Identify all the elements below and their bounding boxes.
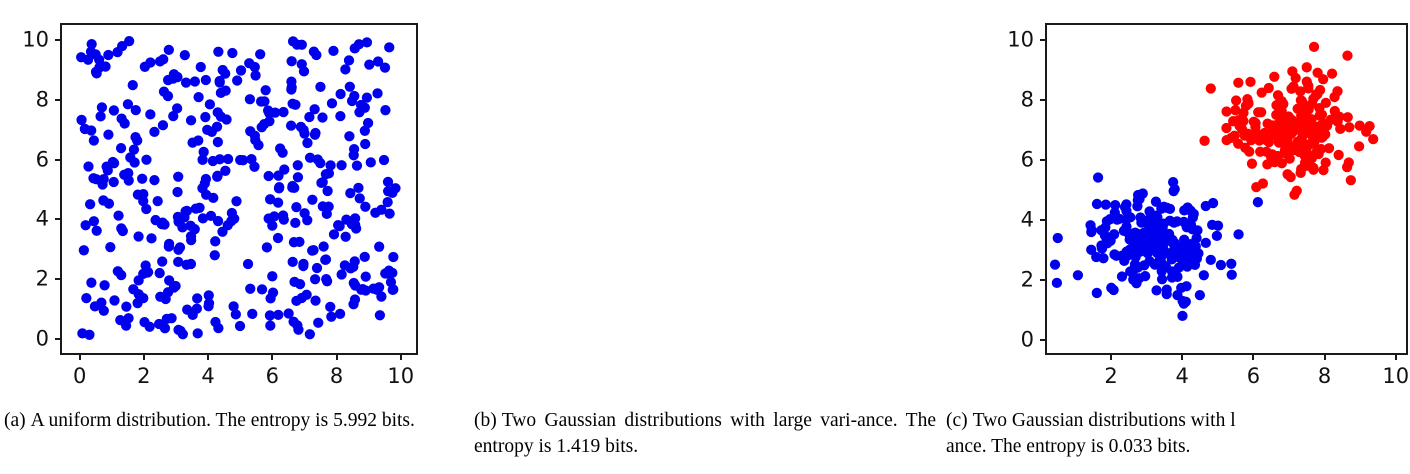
data-point xyxy=(116,143,126,153)
data-point xyxy=(213,107,223,117)
data-point xyxy=(265,321,275,331)
data-point xyxy=(360,202,370,212)
data-point xyxy=(208,193,218,203)
data-point xyxy=(210,250,220,260)
data-point xyxy=(350,256,360,266)
data-point xyxy=(291,202,301,212)
data-point xyxy=(192,293,202,303)
data-point xyxy=(344,55,354,65)
data-point xyxy=(205,99,215,109)
data-point xyxy=(274,182,284,192)
data-point xyxy=(277,148,287,158)
data-point xyxy=(201,75,211,85)
data-point xyxy=(113,210,123,220)
data-point xyxy=(199,147,209,157)
data-point xyxy=(89,216,99,226)
data-point xyxy=(273,233,283,243)
data-point xyxy=(236,65,246,75)
data-point xyxy=(109,295,119,305)
x-tick-label-0: 0 xyxy=(73,366,86,387)
data-point xyxy=(349,91,359,101)
data-point xyxy=(158,217,168,227)
data-point xyxy=(262,242,272,252)
data-point xyxy=(163,91,173,101)
data-point xyxy=(374,242,384,252)
data-point xyxy=(89,135,99,145)
data-point xyxy=(83,161,93,171)
data-point xyxy=(250,62,260,72)
data-point xyxy=(313,154,323,164)
data-point xyxy=(221,85,231,95)
data-point xyxy=(340,260,350,270)
data-point xyxy=(289,237,299,247)
data-point xyxy=(201,174,211,184)
data-point xyxy=(180,206,190,216)
data-point xyxy=(149,175,159,185)
data-point xyxy=(286,84,296,94)
data-point xyxy=(196,62,206,72)
data-point xyxy=(133,231,143,241)
data-point xyxy=(146,233,156,243)
data-point xyxy=(296,122,306,132)
data-point xyxy=(83,55,93,65)
data-point xyxy=(308,245,318,255)
data-point xyxy=(267,271,277,281)
data-point xyxy=(235,155,245,165)
figure-root: 02468100246810 (a)A uniform distribution… xyxy=(0,0,1410,474)
data-point xyxy=(164,241,174,251)
data-point xyxy=(169,283,179,293)
data-point xyxy=(265,194,275,204)
caption-text-c: Two Gaussian distributions with l xyxy=(973,410,1236,431)
caption-label-b: (b) xyxy=(474,410,497,431)
data-point xyxy=(324,202,334,212)
data-point xyxy=(265,293,275,303)
data-point xyxy=(307,195,317,205)
data-point xyxy=(313,318,323,328)
x-tick-8 xyxy=(336,353,338,360)
data-point xyxy=(158,120,168,130)
data-point xyxy=(289,183,299,193)
data-point xyxy=(350,220,360,230)
data-point xyxy=(364,59,374,69)
data-point xyxy=(320,255,330,265)
data-point xyxy=(388,252,398,262)
data-point xyxy=(187,137,197,147)
data-point xyxy=(149,127,159,137)
data-point xyxy=(175,326,185,336)
data-point xyxy=(113,266,123,276)
data-point xyxy=(210,236,220,246)
data-point xyxy=(264,171,274,181)
data-point xyxy=(121,302,131,312)
y-tick-label-2: 2 xyxy=(36,269,49,290)
y-tick-6 xyxy=(55,159,62,161)
data-point xyxy=(289,277,299,287)
data-point xyxy=(259,96,269,106)
data-point xyxy=(335,111,345,121)
data-point xyxy=(190,224,200,234)
x-tick-label-6: 6 xyxy=(266,366,279,387)
y-tick-label-6: 6 xyxy=(36,149,49,170)
data-point xyxy=(352,161,362,171)
data-point xyxy=(186,235,196,245)
data-point xyxy=(293,172,303,182)
data-point xyxy=(372,285,382,295)
x-tick-0 xyxy=(79,353,81,360)
data-point xyxy=(168,73,178,83)
x-tick-2 xyxy=(143,353,145,360)
data-point xyxy=(92,226,102,236)
data-point xyxy=(173,172,183,182)
data-point xyxy=(376,205,386,215)
data-point xyxy=(283,308,293,318)
y-tick-label-0: 0 xyxy=(36,329,49,350)
data-point xyxy=(227,48,237,58)
data-point xyxy=(203,301,213,311)
data-point xyxy=(220,68,230,78)
data-point xyxy=(215,154,225,164)
y-tick-4 xyxy=(55,218,62,220)
caption-label-c: (c) xyxy=(946,410,968,431)
data-point xyxy=(340,64,350,74)
data-point xyxy=(145,109,155,119)
data-point xyxy=(292,39,302,49)
data-point xyxy=(188,310,198,320)
caption-text-b: Two Gaussian distributions with large va… xyxy=(474,410,941,457)
y-tick-10 xyxy=(55,39,62,41)
data-point xyxy=(278,107,288,117)
data-point xyxy=(253,140,263,150)
data-point xyxy=(133,189,143,199)
data-point xyxy=(180,50,190,60)
data-point xyxy=(388,285,398,295)
data-point xyxy=(213,216,223,226)
data-point xyxy=(80,124,90,134)
data-point xyxy=(299,66,309,76)
data-point xyxy=(99,280,109,290)
caption-text-c-line2: ance. The entropy is 0.033 bits. xyxy=(946,436,1190,457)
data-point xyxy=(210,317,220,327)
data-point xyxy=(213,137,223,147)
data-point xyxy=(217,227,227,237)
data-point xyxy=(336,160,346,170)
data-point xyxy=(286,56,296,66)
y-tick-2 xyxy=(55,278,62,280)
data-point xyxy=(158,54,168,64)
data-point xyxy=(96,297,106,307)
data-point xyxy=(360,252,370,262)
data-point xyxy=(293,325,303,335)
data-point xyxy=(316,178,326,188)
data-point xyxy=(278,210,288,220)
data-point xyxy=(288,99,298,109)
data-point xyxy=(310,274,320,284)
data-point xyxy=(124,36,134,46)
data-point xyxy=(99,174,109,184)
data-point xyxy=(375,310,385,320)
data-point xyxy=(109,105,119,115)
scatter-points-a xyxy=(62,25,416,353)
data-point xyxy=(145,57,155,67)
caption-c: (c)Two Gaussian distributions with lance… xyxy=(946,408,1410,459)
x-tick-4 xyxy=(207,353,209,360)
data-point xyxy=(103,129,113,139)
scatter-plot-a: 02468100246810 xyxy=(60,23,418,355)
subfigure-c: 024681002468 (c)Two Gaussian distributio… xyxy=(940,0,1410,474)
data-point xyxy=(297,293,307,303)
data-point xyxy=(207,127,217,137)
data-point xyxy=(286,120,296,130)
data-point xyxy=(390,183,400,193)
data-point xyxy=(221,114,231,124)
data-point xyxy=(231,309,241,319)
data-point xyxy=(263,105,273,115)
data-point xyxy=(177,222,187,232)
data-point xyxy=(157,256,167,266)
data-point xyxy=(290,218,300,228)
data-point xyxy=(363,118,373,128)
data-point xyxy=(322,276,332,286)
data-point xyxy=(304,112,314,122)
x-tick-label-8: 8 xyxy=(330,366,343,387)
data-point xyxy=(255,49,265,59)
data-point xyxy=(298,261,308,271)
data-point xyxy=(246,154,256,164)
caption-a: (a)A uniform distribution. The entropy i… xyxy=(4,408,466,434)
data-point xyxy=(305,329,315,339)
data-point xyxy=(154,319,164,329)
data-point xyxy=(129,157,139,167)
data-point xyxy=(345,82,355,92)
data-point xyxy=(85,199,95,209)
data-point xyxy=(335,89,345,99)
data-point xyxy=(344,131,354,141)
data-point xyxy=(97,102,107,112)
x-tick-label-10: 10 xyxy=(387,366,414,387)
data-point xyxy=(134,289,144,299)
data-point xyxy=(333,220,343,230)
data-point xyxy=(380,105,390,115)
data-point xyxy=(362,37,372,47)
data-point xyxy=(105,242,115,252)
data-point xyxy=(133,275,143,285)
data-point xyxy=(310,295,320,305)
data-point xyxy=(116,113,126,123)
data-point xyxy=(232,75,242,85)
data-point xyxy=(360,139,370,149)
data-point xyxy=(173,245,183,255)
data-point xyxy=(317,112,327,122)
data-point xyxy=(349,150,359,160)
data-point xyxy=(356,100,366,110)
data-point xyxy=(310,130,320,140)
data-point xyxy=(361,271,371,281)
data-point xyxy=(86,278,96,288)
y-tick-label-4: 4 xyxy=(36,209,49,230)
data-point xyxy=(350,280,360,290)
data-point xyxy=(302,138,312,148)
data-point xyxy=(293,160,303,170)
data-point xyxy=(190,76,200,86)
data-point xyxy=(327,98,337,108)
data-point xyxy=(264,116,274,126)
data-point xyxy=(355,193,365,203)
scatter-canvas-a xyxy=(62,25,416,353)
data-point xyxy=(212,171,222,181)
data-point xyxy=(168,111,178,121)
data-point xyxy=(119,170,129,180)
data-point xyxy=(172,187,182,197)
data-point xyxy=(325,302,335,312)
data-point xyxy=(337,269,347,279)
data-point xyxy=(131,105,141,115)
data-point xyxy=(141,155,151,165)
data-point xyxy=(384,42,394,52)
data-point xyxy=(372,88,382,98)
data-point xyxy=(213,47,223,57)
x-tick-label-4: 4 xyxy=(201,366,214,387)
data-point xyxy=(103,50,113,60)
data-point xyxy=(155,268,165,278)
subfigure-b: 0246810246810 (b)Two Gaussian distributi… xyxy=(470,0,940,474)
data-point xyxy=(247,309,257,319)
data-point xyxy=(155,292,165,302)
data-point xyxy=(235,321,245,331)
data-point xyxy=(130,132,140,142)
data-point xyxy=(128,80,138,90)
data-point xyxy=(341,232,351,242)
data-point xyxy=(261,85,271,95)
y-tick-0 xyxy=(55,338,62,340)
data-point xyxy=(197,183,207,193)
data-point xyxy=(200,112,210,122)
data-point xyxy=(350,43,360,53)
data-point xyxy=(265,310,275,320)
data-point xyxy=(315,82,325,92)
data-point xyxy=(250,131,260,141)
subfigure-a: 02468100246810 (a)A uniform distribution… xyxy=(0,0,470,474)
caption-b: (b)Two Gaussian distributions with large… xyxy=(474,408,936,459)
data-point xyxy=(193,92,203,102)
data-point xyxy=(309,46,319,56)
data-point xyxy=(109,158,119,168)
data-point xyxy=(288,257,298,267)
data-point xyxy=(79,245,89,255)
data-point xyxy=(98,195,108,205)
y-tick-label-8: 8 xyxy=(36,89,49,110)
data-point xyxy=(81,293,91,303)
data-point xyxy=(257,284,267,294)
data-point xyxy=(273,171,283,181)
data-point xyxy=(345,188,355,198)
data-point xyxy=(186,115,196,125)
data-point xyxy=(366,157,376,167)
data-point xyxy=(328,46,338,56)
data-point xyxy=(245,94,255,104)
point-series-uniform xyxy=(76,36,401,340)
data-point xyxy=(325,160,335,170)
data-point xyxy=(198,213,208,223)
data-point xyxy=(132,298,142,308)
data-point xyxy=(312,263,322,273)
data-point xyxy=(191,203,201,213)
data-point xyxy=(302,215,312,225)
data-point xyxy=(76,115,86,125)
data-point xyxy=(379,155,389,165)
y-tick-8 xyxy=(55,99,62,101)
y-tick-label-10: 10 xyxy=(22,29,49,50)
data-point xyxy=(181,77,191,87)
data-point xyxy=(380,268,390,278)
data-point xyxy=(137,174,147,184)
data-point xyxy=(144,322,154,332)
data-point xyxy=(319,241,329,251)
data-point xyxy=(173,257,183,267)
data-point xyxy=(193,328,203,338)
data-point xyxy=(95,111,105,121)
data-point xyxy=(109,177,119,187)
data-point xyxy=(153,196,163,206)
x-tick-10 xyxy=(400,353,402,360)
caption-text-a: A uniform distribution. The entropy is 5… xyxy=(31,410,415,431)
data-point xyxy=(164,45,174,55)
x-tick-label-2: 2 xyxy=(137,366,150,387)
data-point xyxy=(267,220,277,230)
data-point xyxy=(350,294,360,304)
data-point xyxy=(204,290,214,300)
data-point xyxy=(245,284,255,294)
data-point xyxy=(115,315,125,325)
data-point xyxy=(243,259,253,269)
data-point xyxy=(335,309,345,319)
caption-label-a: (a) xyxy=(4,410,26,431)
data-point xyxy=(77,328,87,338)
data-point xyxy=(380,63,390,73)
x-tick-6 xyxy=(271,353,273,360)
data-point xyxy=(231,196,241,206)
data-point xyxy=(118,226,128,236)
data-point xyxy=(326,312,336,322)
data-point xyxy=(91,67,101,77)
